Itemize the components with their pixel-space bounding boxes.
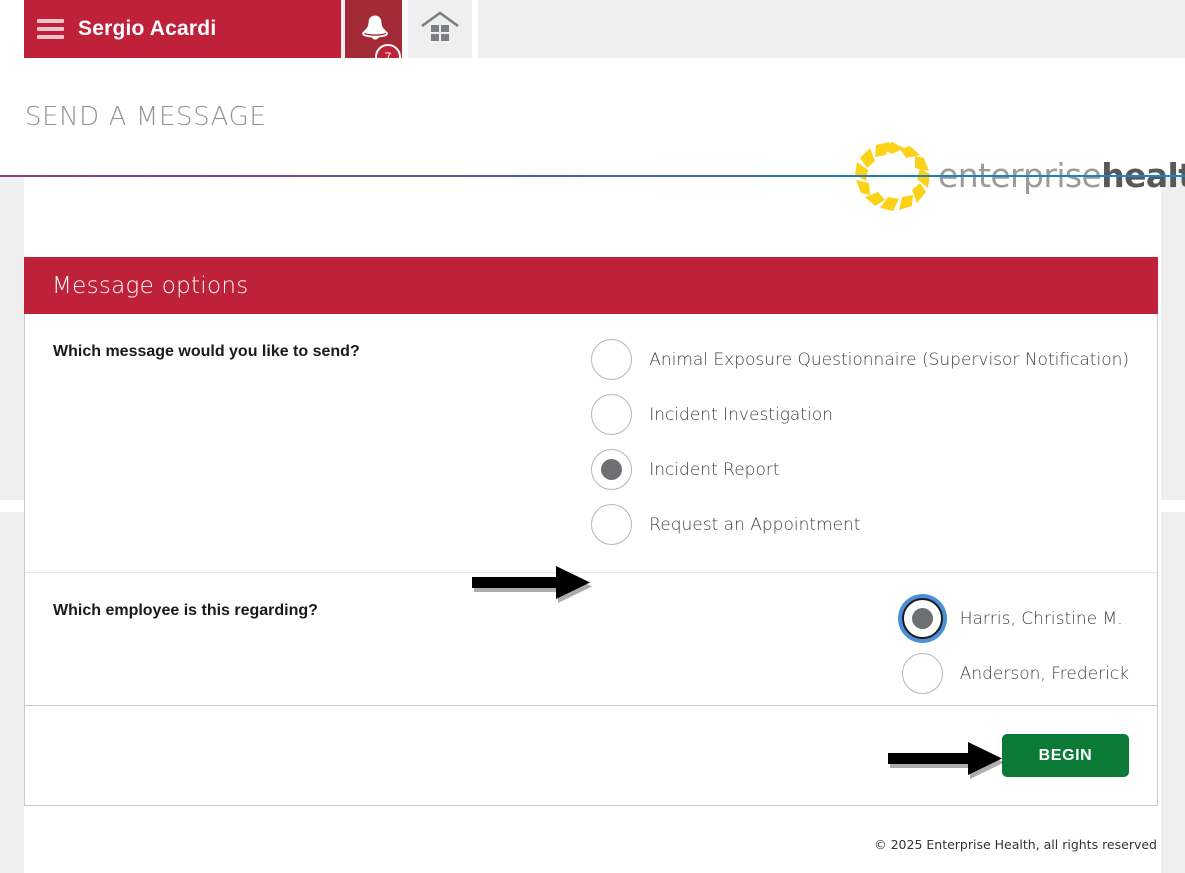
radio-option-animal-exposure-questionnaire[interactable]: Animal Exposure Questionnaire (Superviso… bbox=[591, 332, 1129, 387]
radio-label-anderson-frederick: Anderson, Frederick bbox=[960, 664, 1129, 684]
question-label-message-type: Which message would you like to send? bbox=[53, 332, 383, 552]
message-options-card: Message options Which message would you … bbox=[24, 257, 1158, 722]
radio-option-anderson-frederick[interactable]: Anderson, Frederick bbox=[902, 646, 1129, 701]
page-title: SEND A MESSAGE bbox=[25, 102, 266, 132]
radio-group-message-type: Animal Exposure Questionnaire (Superviso… bbox=[591, 332, 1129, 552]
message-options-card-header: Message options bbox=[24, 257, 1158, 314]
user-menu-button[interactable]: Sergio Acardi bbox=[24, 0, 341, 58]
question-label-employee: Which employee is this regarding? bbox=[53, 591, 383, 701]
question-group-employee: Which employee is this regarding? Harris… bbox=[25, 572, 1157, 721]
home-icon bbox=[418, 10, 462, 49]
page-background-left-2 bbox=[0, 512, 24, 873]
page-header-region: SEND A MESSAGE bbox=[0, 58, 1185, 176]
notifications-button[interactable]: 7 bbox=[345, 0, 402, 58]
user-name-label: Sergio Acardi bbox=[78, 17, 216, 41]
radio-input-incident-investigation[interactable] bbox=[591, 394, 632, 435]
radio-option-incident-investigation[interactable]: Incident Investigation bbox=[591, 387, 1129, 442]
topbar-divider-2 bbox=[472, 0, 478, 58]
radio-label-harris-christine: Harris, Christine M. bbox=[960, 609, 1123, 629]
message-options-card-body: Which message would you like to send? An… bbox=[24, 314, 1158, 722]
radio-label-incident-investigation: Incident Investigation bbox=[649, 405, 833, 425]
sun-burst-icon bbox=[848, 199, 936, 216]
begin-button[interactable]: BEGIN bbox=[1002, 734, 1129, 777]
page-background-right-2 bbox=[1161, 512, 1185, 873]
radio-option-harris-christine[interactable]: Harris, Christine M. bbox=[902, 591, 1129, 646]
radio-label-request-an-appointment: Request an Appointment bbox=[649, 515, 860, 535]
radio-input-harris-christine[interactable] bbox=[902, 598, 943, 639]
radio-label-incident-report: Incident Report bbox=[649, 460, 779, 480]
hamburger-menu-icon[interactable] bbox=[37, 19, 64, 39]
radio-group-employee: Harris, Christine M. Anderson, Frederick bbox=[902, 591, 1129, 701]
radio-input-request-an-appointment[interactable] bbox=[591, 504, 632, 545]
card-title: Message options bbox=[52, 273, 249, 299]
radio-input-incident-report[interactable] bbox=[591, 449, 632, 490]
question-group-message-type: Which message would you like to send? An… bbox=[25, 314, 1157, 572]
copyright-text: © 2025 Enterprise Health, all rights res… bbox=[874, 837, 1157, 852]
top-navigation-bar: Sergio Acardi 7 bbox=[0, 0, 1185, 58]
radio-input-animal-exposure-questionnaire[interactable] bbox=[591, 339, 632, 380]
action-bar-card: BEGIN bbox=[24, 705, 1158, 806]
header-gradient-divider bbox=[0, 175, 1185, 177]
radio-option-incident-report[interactable]: Incident Report bbox=[591, 442, 1129, 497]
topbar-left-spacer bbox=[0, 0, 24, 58]
layout-spacer-2 bbox=[383, 591, 902, 701]
radio-label-animal-exposure-questionnaire: Animal Exposure Questionnaire (Superviso… bbox=[649, 350, 1129, 370]
layout-spacer-1 bbox=[383, 332, 591, 552]
home-button[interactable] bbox=[408, 0, 472, 58]
radio-input-anderson-frederick[interactable] bbox=[902, 653, 943, 694]
radio-option-request-an-appointment[interactable]: Request an Appointment bbox=[591, 497, 1129, 552]
